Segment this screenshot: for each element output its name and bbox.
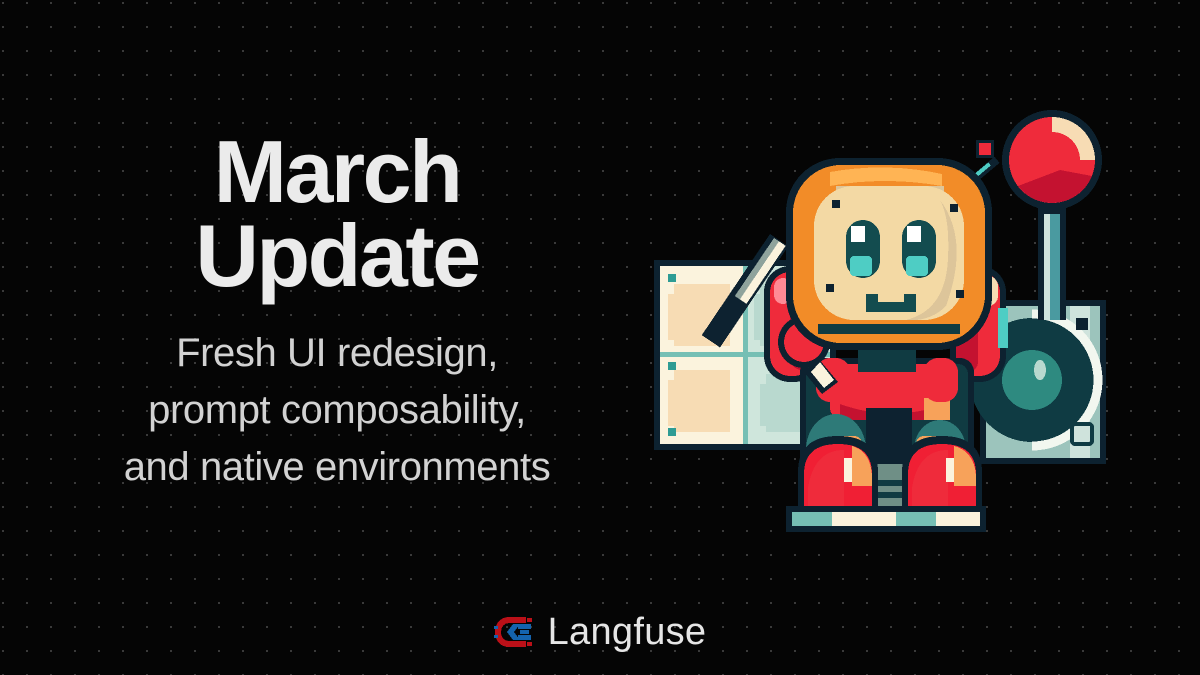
balloon-on-stick-icon (1002, 110, 1102, 320)
robot-head-icon (786, 158, 992, 350)
pixel-art-robot-mascot (640, 108, 1130, 538)
page-title: March Update (28, 130, 646, 299)
hero-banner: March Update Fresh UI redesign, prompt c… (0, 0, 1200, 675)
langfuse-logo-icon (494, 615, 534, 649)
brand-name: Langfuse (548, 613, 707, 651)
hero-text-column: March Update Fresh UI redesign, prompt c… (28, 130, 646, 495)
page-subtitle: Fresh UI redesign, prompt composability,… (28, 325, 646, 495)
brand-lockup: Langfuse (0, 613, 1200, 651)
floor-bar-icon (786, 506, 986, 532)
